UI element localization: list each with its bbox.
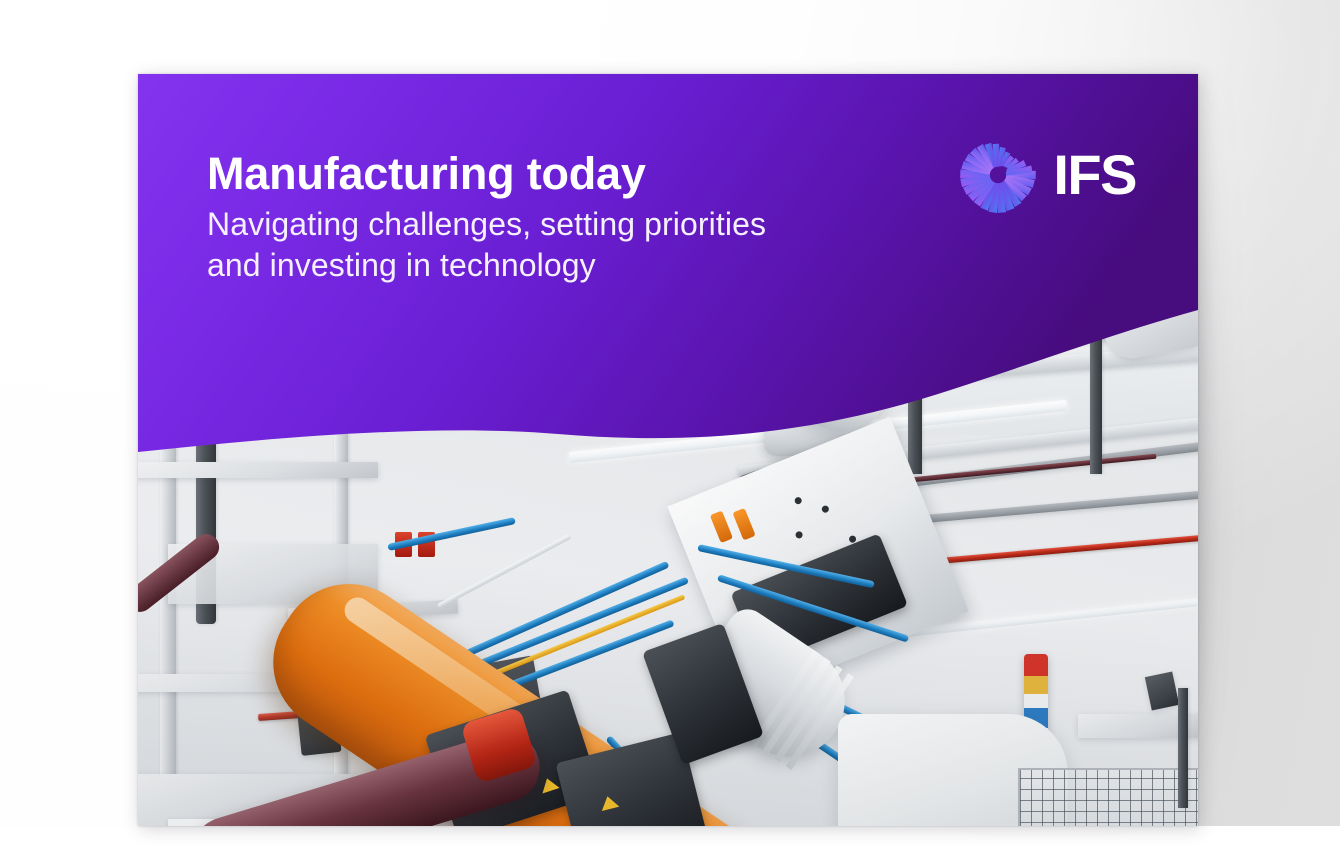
subtitle-line-1: Navigating challenges, setting prioritie… bbox=[207, 204, 927, 246]
subtitle-line-2: and investing in technology bbox=[207, 245, 927, 287]
ifs-spiral-burst-icon bbox=[957, 134, 1039, 216]
ifs-wordmark: IFS bbox=[1053, 147, 1136, 203]
ifs-logo: IFS bbox=[957, 134, 1136, 216]
page-subtitle: Navigating challenges, setting prioritie… bbox=[207, 204, 927, 287]
report-cover-page: Manufacturing today Navigating challenge… bbox=[138, 74, 1198, 826]
page-title: Manufacturing today bbox=[207, 150, 927, 198]
cover-title-block: Manufacturing today Navigating challenge… bbox=[207, 150, 927, 287]
